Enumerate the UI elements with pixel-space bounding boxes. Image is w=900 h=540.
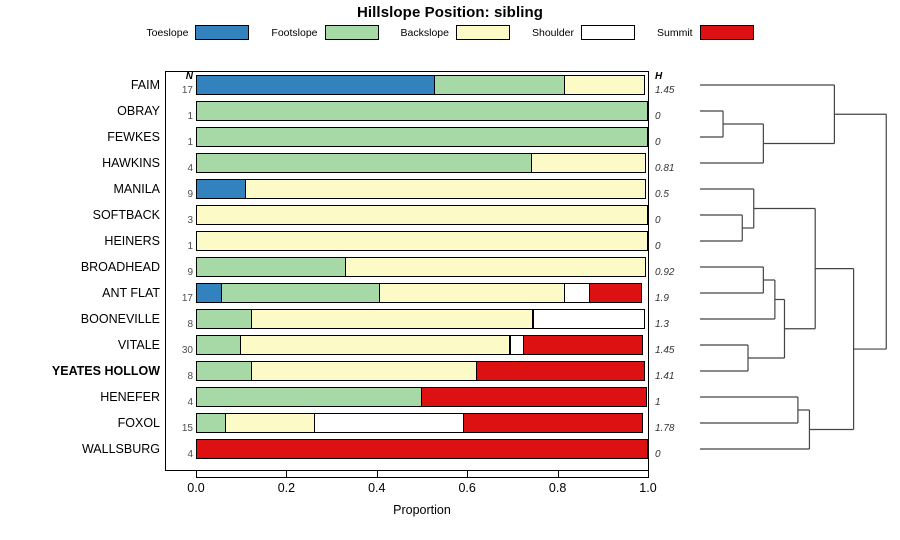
bar-segment-backslope[interactable]: [379, 283, 565, 303]
bar-segment-footslope[interactable]: [196, 101, 648, 121]
row-n-value: 8: [167, 371, 193, 383]
legend-item-toeslope[interactable]: Toeslope: [146, 25, 249, 40]
legend-label: Shoulder: [532, 27, 574, 39]
x-tick: [377, 471, 378, 478]
row-category-label: HEINERS: [0, 228, 160, 254]
bar-segment-summit[interactable]: [523, 335, 644, 355]
stacked-bar: [196, 361, 648, 381]
row-category-label: BOONEVILLE: [0, 306, 160, 332]
x-axis-line: [196, 477, 648, 478]
bar-segment-toeslope[interactable]: [196, 283, 223, 303]
bar-segment-footslope[interactable]: [221, 283, 381, 303]
row-category-label: FOXOL: [0, 410, 160, 436]
row-n-value: 1: [167, 241, 193, 253]
x-tick-label: 0.8: [536, 481, 580, 495]
row-category-label: HENEFER: [0, 384, 160, 410]
legend-swatch: [700, 25, 754, 40]
dendrogram: [680, 60, 900, 480]
legend: ToeslopeFootslopeBackslopeShoulderSummit: [0, 25, 900, 40]
bar-segment-footslope[interactable]: [196, 335, 241, 355]
row-n-value: 3: [167, 215, 193, 227]
stacked-bar: [196, 179, 648, 199]
x-tick: [648, 471, 649, 478]
row-n-value: 17: [167, 293, 193, 305]
stacked-bar: [196, 75, 648, 95]
stacked-bar: [196, 335, 648, 355]
stacked-bar: [196, 231, 648, 251]
bar-segment-backslope[interactable]: [240, 335, 511, 355]
x-tick: [467, 471, 468, 478]
stacked-bar: [196, 439, 648, 459]
row-n-value: 15: [167, 423, 193, 435]
row-category-label: OBRAY: [0, 98, 160, 124]
bar-segment-footslope[interactable]: [434, 75, 565, 95]
row-category-label: FAIM: [0, 72, 160, 98]
bar-segment-footslope[interactable]: [196, 387, 422, 407]
bar-segment-backslope[interactable]: [225, 413, 315, 433]
bar-segment-footslope[interactable]: [196, 361, 253, 381]
row-n-value: 1: [167, 111, 193, 123]
bar-segment-backslope[interactable]: [251, 361, 477, 381]
bar-segment-footslope[interactable]: [196, 127, 648, 147]
bar-segment-backslope[interactable]: [251, 309, 534, 329]
legend-swatch: [195, 25, 249, 40]
legend-swatch: [581, 25, 635, 40]
legend-label: Summit: [657, 27, 693, 39]
row-n-value: 8: [167, 319, 193, 331]
stacked-bar: [196, 257, 648, 277]
legend-item-shoulder[interactable]: Shoulder: [532, 25, 635, 40]
bar-segment-backslope[interactable]: [564, 75, 645, 95]
x-tick-label: 0.6: [445, 481, 489, 495]
bar-segment-footslope[interactable]: [196, 413, 226, 433]
legend-label: Backslope: [401, 27, 449, 39]
row-category-label: ANT FLAT: [0, 280, 160, 306]
stacked-bar: [196, 283, 648, 303]
bar-segment-backslope[interactable]: [245, 179, 647, 199]
bar-segment-summit[interactable]: [476, 361, 646, 381]
dendrogram-svg: [680, 60, 900, 480]
row-category-label: BROADHEAD: [0, 254, 160, 280]
x-axis-label: Proportion: [196, 503, 648, 517]
bar-segment-shoulder[interactable]: [532, 309, 645, 329]
legend-item-summit[interactable]: Summit: [657, 25, 754, 40]
row-category-label: HAWKINS: [0, 150, 160, 176]
bar-segment-summit[interactable]: [196, 439, 648, 459]
bar-segment-toeslope[interactable]: [196, 75, 436, 95]
bar-segment-summit[interactable]: [463, 413, 644, 433]
plot-canvas: Hillslope Position: sibling ToeslopeFoot…: [0, 0, 900, 540]
x-tick: [286, 471, 287, 478]
x-tick-label: 0.2: [264, 481, 308, 495]
x-tick-label: 0.4: [355, 481, 399, 495]
legend-item-backslope[interactable]: Backslope: [401, 25, 510, 40]
x-tick-label: 0.0: [174, 481, 218, 495]
row-category-label: WALLSBURG: [0, 436, 160, 462]
page-title: Hillslope Position: sibling: [0, 4, 900, 21]
legend-swatch: [325, 25, 379, 40]
bar-segment-toeslope[interactable]: [196, 179, 246, 199]
row-n-value: 4: [167, 397, 193, 409]
stacked-bar: [196, 153, 648, 173]
x-tick: [558, 471, 559, 478]
bar-segment-footslope[interactable]: [196, 257, 347, 277]
row-n-value: 4: [167, 449, 193, 461]
bar-segment-shoulder[interactable]: [564, 283, 591, 303]
legend-item-footslope[interactable]: Footslope: [271, 25, 378, 40]
row-category-label: YEATES HOLLOW: [0, 358, 160, 384]
row-category-label: VITALE: [0, 332, 160, 358]
row-n-value: 9: [167, 189, 193, 201]
bar-segment-backslope[interactable]: [196, 231, 648, 251]
row-n-value: 1: [167, 137, 193, 149]
bar-segment-backslope[interactable]: [345, 257, 646, 277]
bar-segment-summit[interactable]: [421, 387, 647, 407]
bar-segment-backslope[interactable]: [531, 153, 646, 173]
row-n-value: 17: [167, 85, 193, 97]
stacked-bar: [196, 309, 648, 329]
bar-segment-summit[interactable]: [589, 283, 642, 303]
row-category-label: MANILA: [0, 176, 160, 202]
bar-segment-backslope[interactable]: [196, 205, 648, 225]
legend-label: Footslope: [271, 27, 317, 39]
row-n-value: 9: [167, 267, 193, 279]
bar-segment-footslope[interactable]: [196, 309, 253, 329]
x-axis: 0.00.20.40.60.81.0 Proportion: [0, 471, 900, 531]
row-n-value: 30: [167, 345, 193, 357]
bar-segment-footslope[interactable]: [196, 153, 533, 173]
legend-label: Toeslope: [146, 27, 188, 39]
stacked-bar: [196, 413, 648, 433]
x-tick: [196, 471, 197, 478]
x-tick-label: 1.0: [626, 481, 670, 495]
stacked-bar: [196, 387, 648, 407]
bar-segment-shoulder[interactable]: [314, 413, 465, 433]
row-category-label: SOFTBACK: [0, 202, 160, 228]
row-n-value: 4: [167, 163, 193, 175]
legend-swatch: [456, 25, 510, 40]
stacked-bar: [196, 127, 648, 147]
row-category-label: FEWKES: [0, 124, 160, 150]
stacked-bar: [196, 205, 648, 225]
stacked-bar: [196, 101, 648, 121]
